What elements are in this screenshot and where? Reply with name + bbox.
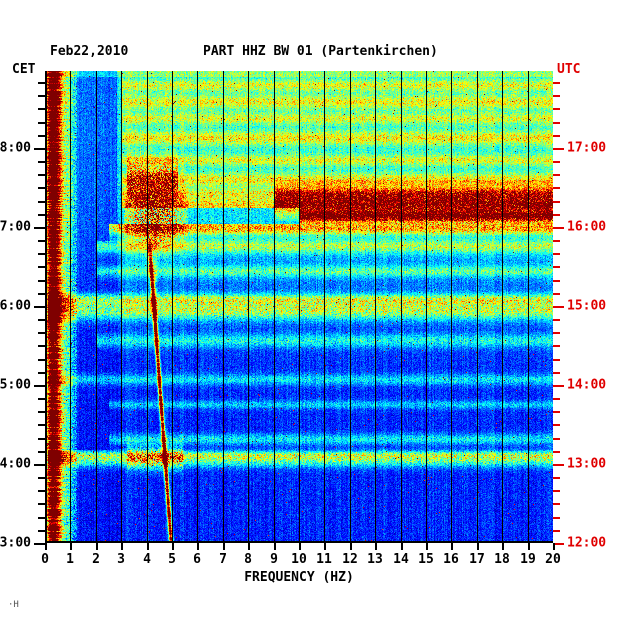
left-axis-minor-tick — [38, 359, 45, 361]
left-axis-minor-tick — [38, 319, 45, 321]
left-axis-minor-tick — [38, 490, 45, 492]
frequency-axis-label: 19 — [520, 552, 536, 567]
left-axis-minor-tick — [38, 503, 45, 505]
frequency-axis-label: 20 — [545, 552, 561, 567]
frequency-axis-tick — [477, 543, 479, 550]
frequency-axis-tick — [426, 543, 428, 550]
right-axis-minor-tick — [553, 398, 560, 400]
frequency-axis-tick — [401, 543, 403, 550]
frequency-axis-label: 9 — [270, 552, 278, 567]
right-axis-label: 17:00 — [567, 141, 606, 156]
frequency-axis-tick — [248, 543, 250, 550]
frequency-axis-label: 8 — [244, 552, 252, 567]
frequency-axis-tick — [375, 543, 377, 550]
right-axis-minor-tick — [553, 95, 560, 97]
right-axis-major-tick — [553, 306, 564, 308]
left-axis-minor-tick — [38, 332, 45, 334]
left-axis-minor-tick — [38, 398, 45, 400]
frequency-axis-label: 15 — [418, 552, 434, 567]
right-axis-minor-tick — [553, 253, 560, 255]
right-axis-label: 16:00 — [567, 220, 606, 235]
spectrogram-plot[interactable] — [45, 71, 553, 543]
frequency-axis-tick — [147, 543, 149, 550]
right-time-axis: 17:0016:0015:0014:0013:0012:00 — [553, 71, 630, 543]
date-label: Feb22,2010 — [50, 44, 128, 59]
left-axis-major-tick — [34, 464, 45, 466]
left-axis-minor-tick — [38, 477, 45, 479]
left-axis-label: 14:00 — [0, 457, 31, 472]
left-axis-minor-tick — [38, 372, 45, 374]
right-axis-major-tick — [553, 385, 564, 387]
left-axis-major-tick — [34, 227, 45, 229]
left-axis-major-tick — [34, 306, 45, 308]
frequency-axis-tick — [45, 543, 47, 550]
left-axis-minor-tick — [38, 280, 45, 282]
frequency-axis-label: 2 — [92, 552, 100, 567]
spectrogram-canvas[interactable] — [45, 71, 553, 543]
right-axis-minor-tick — [553, 108, 560, 110]
right-axis-label: 15:00 — [567, 299, 606, 314]
right-axis-minor-tick — [553, 490, 560, 492]
left-axis-minor-tick — [38, 424, 45, 426]
frequency-axis-label: 17 — [469, 552, 485, 567]
frequency-axis-label: 12 — [342, 552, 358, 567]
frequency-axis-label: 6 — [193, 552, 201, 567]
right-axis-minor-tick — [553, 293, 560, 295]
frequency-axis-tick — [197, 543, 199, 550]
frequency-axis-label: 16 — [443, 552, 459, 567]
left-axis-major-tick — [34, 385, 45, 387]
right-axis-label: 14:00 — [567, 378, 606, 393]
left-axis-minor-tick — [38, 266, 45, 268]
left-axis-minor-tick — [38, 411, 45, 413]
frequency-axis-label: 4 — [143, 552, 151, 567]
left-axis-minor-tick — [38, 174, 45, 176]
spectrogram-page: Feb22,2010 PART HHZ BW 01 (Partenkirchen… — [0, 0, 630, 624]
left-axis-major-tick — [34, 543, 45, 545]
left-axis-minor-tick — [38, 201, 45, 203]
left-axis-label: 16:00 — [0, 299, 31, 314]
left-axis-minor-tick — [38, 82, 45, 84]
frequency-axis-tick — [528, 543, 530, 550]
right-axis-minor-tick — [553, 359, 560, 361]
right-axis-minor-tick — [553, 122, 560, 124]
left-axis-minor-tick — [38, 161, 45, 163]
left-axis-minor-tick — [38, 438, 45, 440]
right-axis-minor-tick — [553, 503, 560, 505]
left-axis-label: 18:00 — [0, 141, 31, 156]
right-axis-minor-tick — [553, 187, 560, 189]
corner-artifact: ·H — [8, 600, 19, 610]
station-title: PART HHZ BW 01 (Partenkirchen) — [203, 44, 438, 59]
frequency-axis: FREQUENCY (HZ) 0123456789101112131415161… — [45, 543, 553, 583]
left-axis-minor-tick — [38, 95, 45, 97]
left-axis-minor-tick — [38, 253, 45, 255]
frequency-axis-tick — [324, 543, 326, 550]
right-axis-minor-tick — [553, 240, 560, 242]
left-axis-label: 15:00 — [0, 378, 31, 393]
right-axis-minor-tick — [553, 372, 560, 374]
frequency-axis-tick — [350, 543, 352, 550]
frequency-axis-label: 18 — [494, 552, 510, 567]
frequency-axis-tick — [96, 543, 98, 550]
left-axis-minor-tick — [38, 345, 45, 347]
left-axis-minor-tick — [38, 293, 45, 295]
frequency-axis-label: 0 — [41, 552, 49, 567]
right-axis-minor-tick — [553, 319, 560, 321]
right-axis-minor-tick — [553, 82, 560, 84]
right-axis-minor-tick — [553, 161, 560, 163]
right-axis-minor-tick — [553, 345, 560, 347]
right-axis-minor-tick — [553, 266, 560, 268]
left-axis-minor-tick — [38, 122, 45, 124]
frequency-axis-tick — [223, 543, 225, 550]
right-axis-minor-tick — [553, 135, 560, 137]
frequency-axis-label: 3 — [117, 552, 125, 567]
right-axis-minor-tick — [553, 280, 560, 282]
frequency-axis-tick — [553, 543, 555, 550]
right-axis-minor-tick — [553, 411, 560, 413]
left-axis-minor-tick — [38, 214, 45, 216]
frequency-axis-tick — [70, 543, 72, 550]
right-axis-minor-tick — [553, 332, 560, 334]
left-axis-minor-tick — [38, 517, 45, 519]
right-axis-minor-tick — [553, 517, 560, 519]
left-axis-minor-tick — [38, 108, 45, 110]
frequency-axis-label: 14 — [393, 552, 409, 567]
right-axis-label: 12:00 — [567, 536, 606, 551]
right-axis-minor-tick — [553, 438, 560, 440]
left-axis-label: 13:00 — [0, 536, 31, 551]
frequency-axis-tick — [502, 543, 504, 550]
frequency-axis-tick — [299, 543, 301, 550]
frequency-axis-label: 13 — [367, 552, 383, 567]
frequency-axis-label: 1 — [66, 552, 74, 567]
frequency-axis-tick — [172, 543, 174, 550]
frequency-axis-label: 10 — [291, 552, 307, 567]
right-axis-minor-tick — [553, 174, 560, 176]
frequency-axis-tick — [451, 543, 453, 550]
right-axis-minor-tick — [553, 424, 560, 426]
frequency-axis-label: 11 — [316, 552, 332, 567]
left-axis-major-tick — [34, 148, 45, 150]
right-axis-minor-tick — [553, 214, 560, 216]
frequency-axis-tick — [121, 543, 123, 550]
xaxis-title: FREQUENCY (HZ) — [244, 570, 354, 585]
frequency-axis-label: 5 — [168, 552, 176, 567]
left-axis-minor-tick — [38, 451, 45, 453]
right-axis-label: 13:00 — [567, 457, 606, 472]
right-axis-major-tick — [553, 227, 564, 229]
frequency-axis-label: 7 — [219, 552, 227, 567]
left-axis-minor-tick — [38, 187, 45, 189]
right-axis-minor-tick — [553, 201, 560, 203]
left-axis-minor-tick — [38, 530, 45, 532]
right-axis-major-tick — [553, 464, 564, 466]
right-axis-minor-tick — [553, 530, 560, 532]
right-axis-major-tick — [553, 148, 564, 150]
left-axis-minor-tick — [38, 135, 45, 137]
right-axis-minor-tick — [553, 451, 560, 453]
right-axis-minor-tick — [553, 477, 560, 479]
left-axis-label: 17:00 — [0, 220, 31, 235]
frequency-axis-tick — [274, 543, 276, 550]
left-time-axis: 18:0017:0016:0015:0014:0013:00 — [0, 71, 45, 543]
left-axis-minor-tick — [38, 240, 45, 242]
